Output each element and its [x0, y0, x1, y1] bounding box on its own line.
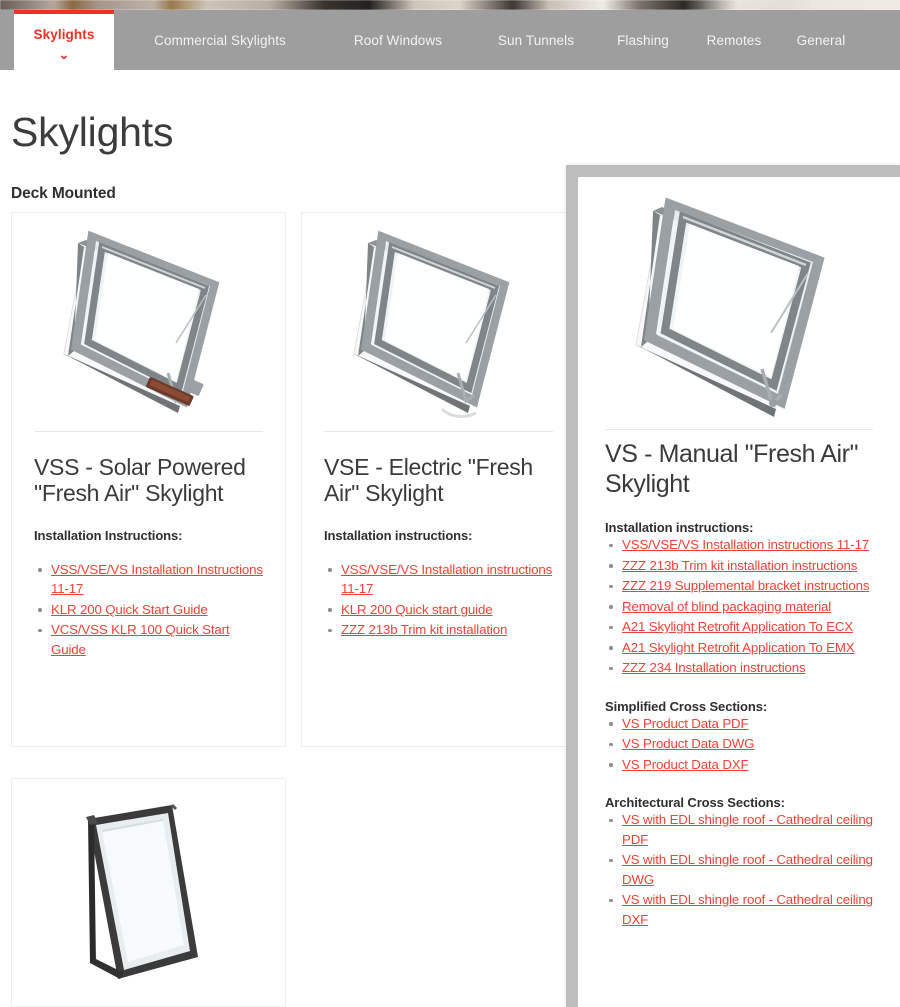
list-item: VS Product Data DXF — [605, 755, 873, 775]
product-card-vss[interactable]: VSS - Solar Powered "Fresh Air" Skylight… — [11, 212, 286, 747]
list-item: KLR 200 Quick Start Guide — [34, 600, 263, 620]
overlay-inner: VS - Manual "Fresh Air" Skylight Install… — [578, 177, 900, 1007]
card-title-vse: VSE - Electric "Fresh Air" Skylight — [324, 454, 553, 506]
overlay-s1-link-0[interactable]: VS Product Data PDF — [622, 716, 748, 731]
overlay-s2-link-2[interactable]: VS with EDL shingle roof - Cathedral cei… — [622, 892, 873, 927]
nav-tab-list: Skylights⌄Commercial SkylightsRoof Windo… — [0, 10, 900, 70]
list-item: A21 Skylight Retrofit Application To EMX — [605, 638, 873, 658]
vss-doc-link-2[interactable]: VCS/VSS KLR 100 Quick Start Guide — [51, 622, 230, 657]
overlay-section-heading-2: Architectural Cross Sections: — [605, 795, 873, 810]
list-item: VSS/VSE/VS Installation instructions 11-… — [324, 560, 553, 599]
nav-tab-label: Commercial Skylights — [154, 33, 286, 48]
card-subheading-vse: Installation instructions: — [324, 528, 553, 543]
overlay-s0-link-4[interactable]: A21 Skylight Retrofit Application To ECX — [622, 619, 853, 634]
skylight-vented-electric-icon — [346, 223, 536, 423]
vss-doc-link-1[interactable]: KLR 200 Quick Start Guide — [51, 602, 208, 617]
overlay-section-heading-1: Simplified Cross Sections: — [605, 699, 873, 714]
overlay-s0-link-2[interactable]: ZZZ 219 Supplemental bracket instruction… — [622, 578, 869, 593]
vss-doc-link-0[interactable]: VSS/VSE/VS Installation Instructions 11-… — [51, 562, 263, 597]
overlay-s0-link-5[interactable]: A21 Skylight Retrofit Application To EMX — [622, 640, 854, 655]
overlay-s0-link-6[interactable]: ZZZ 234 Installation instructions — [622, 660, 806, 675]
list-item: KLR 200 Quick start guide — [324, 600, 553, 620]
nav-tab-sun-tunnels[interactable]: Sun Tunnels — [492, 10, 580, 70]
overlay-s1-link-1[interactable]: VS Product Data DWG — [622, 736, 754, 751]
overlay-s1-link-2[interactable]: VS Product Data DXF — [622, 757, 748, 772]
nav-tab-general[interactable]: General — [790, 10, 852, 70]
skylight-fixed-icon — [76, 797, 236, 992]
overlay-product-image-vs — [578, 177, 900, 427]
hero-fade — [700, 0, 900, 10]
section-heading-deck-mounted: Deck Mounted — [11, 185, 116, 203]
list-item: ZZZ 213b Trim kit installation — [324, 620, 553, 640]
nav-tab-label: Skylights — [34, 27, 95, 42]
card-link-list-vss: VSS/VSE/VS Installation Instructions 11-… — [34, 560, 263, 660]
main-navigation-bar: Skylights⌄Commercial SkylightsRoof Windo… — [0, 10, 900, 70]
product-image-fixed — [12, 779, 285, 1007]
product-detail-overlay-vs[interactable]: VS - Manual "Fresh Air" Skylight Install… — [566, 165, 900, 1007]
nav-tab-label: Sun Tunnels — [498, 33, 574, 48]
overlay-body: VS - Manual "Fresh Air" Skylight Install… — [578, 439, 900, 930]
list-item: VS with EDL shingle roof - Cathedral cei… — [605, 810, 873, 849]
card-title-vss: VSS - Solar Powered "Fresh Air" Skylight — [34, 454, 263, 506]
vse-doc-link-0[interactable]: VSS/VSE/VS Installation instructions 11-… — [341, 562, 552, 597]
product-card-fixed-skylight[interactable] — [11, 778, 286, 1007]
nav-tab-label: Flashing — [617, 33, 669, 48]
list-item: ZZZ 219 Supplemental bracket instruction… — [605, 576, 873, 596]
card-body-vse: VSE - Electric "Fresh Air" Skylight Inst… — [302, 431, 575, 640]
overlay-s0-link-3[interactable]: Removal of blind packaging material — [622, 599, 831, 614]
nav-tab-label: Remotes — [707, 33, 762, 48]
page-root: Skylights⌄Commercial SkylightsRoof Windo… — [0, 0, 900, 1007]
list-item: VS Product Data PDF — [605, 714, 873, 734]
list-item: VS with EDL shingle roof - Cathedral cei… — [605, 890, 873, 929]
product-card-vse[interactable]: VSE - Electric "Fresh Air" Skylight Inst… — [301, 212, 576, 747]
overlay-s2-link-0[interactable]: VS with EDL shingle roof - Cathedral cei… — [622, 812, 873, 847]
hero-image-strip — [0, 0, 900, 10]
nav-tab-commercial-skylights[interactable]: Commercial Skylights — [150, 10, 290, 70]
nav-tab-remotes[interactable]: Remotes — [700, 10, 768, 70]
skylight-vented-manual-icon — [626, 189, 856, 427]
overlay-link-list-0: VSS/VSE/VS Installation instructions 11-… — [605, 535, 873, 678]
overlay-s0-link-1[interactable]: ZZZ 213b Trim kit installation instructi… — [622, 558, 857, 573]
list-item: VS Product Data DWG — [605, 734, 873, 754]
card-body-vss: VSS - Solar Powered "Fresh Air" Skylight… — [12, 431, 285, 659]
card-subheading-vss: Installation Instructions: — [34, 528, 263, 543]
nav-tab-roof-windows[interactable]: Roof Windows — [342, 10, 454, 70]
list-item: ZZZ 213b Trim kit installation instructi… — [605, 556, 873, 576]
card-link-list-vse: VSS/VSE/VS Installation instructions 11-… — [324, 560, 553, 640]
overlay-link-list-2: VS with EDL shingle roof - Cathedral cei… — [605, 810, 873, 929]
nav-tab-label: General — [797, 33, 846, 48]
skylight-vented-solar-icon — [56, 223, 246, 423]
list-item: VSS/VSE/VS Installation instructions 11-… — [605, 535, 873, 555]
chevron-down-icon[interactable]: ⌄ — [59, 48, 70, 61]
overlay-sections: Installation instructions:VSS/VSE/VS Ins… — [605, 520, 873, 929]
overlay-divider — [605, 429, 873, 430]
overlay-s0-link-0[interactable]: VSS/VSE/VS Installation instructions 11-… — [622, 537, 869, 552]
list-item: A21 Skylight Retrofit Application To ECX — [605, 617, 873, 637]
overlay-section-heading-0: Installation instructions: — [605, 520, 873, 535]
vse-doc-link-1[interactable]: KLR 200 Quick start guide — [341, 602, 492, 617]
overlay-title: VS - Manual "Fresh Air" Skylight — [605, 439, 873, 499]
page-title: Skylights — [11, 112, 173, 153]
vse-doc-link-2[interactable]: ZZZ 213b Trim kit installation — [341, 622, 507, 637]
overlay-s2-link-1[interactable]: VS with EDL shingle roof - Cathedral cei… — [622, 852, 873, 887]
list-item: Removal of blind packaging material — [605, 597, 873, 617]
list-item: ZZZ 234 Installation instructions — [605, 658, 873, 678]
product-image-vse — [302, 213, 575, 431]
list-item: VS with EDL shingle roof - Cathedral cei… — [605, 850, 873, 889]
overlay-link-list-1: VS Product Data PDFVS Product Data DWGVS… — [605, 714, 873, 775]
nav-tab-skylights[interactable]: Skylights⌄ — [14, 10, 114, 70]
list-item: VCS/VSS KLR 100 Quick Start Guide — [34, 620, 263, 659]
product-image-vss — [12, 213, 285, 431]
nav-tab-flashing[interactable]: Flashing — [608, 10, 678, 70]
nav-tab-label: Roof Windows — [354, 33, 442, 48]
list-item: VSS/VSE/VS Installation Instructions 11-… — [34, 560, 263, 599]
